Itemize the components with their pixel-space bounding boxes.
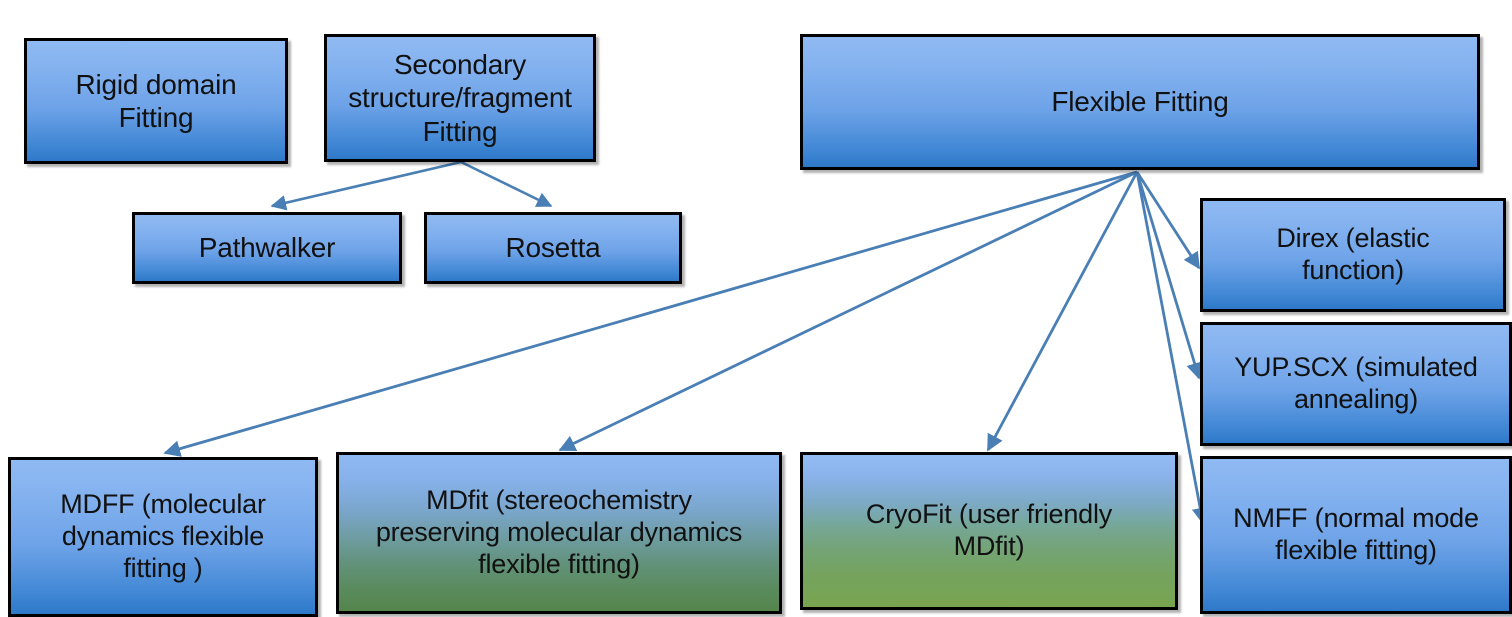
node-nmff-normal-mode-flexible-fitting[interactable]: NMFF (normal modeflexible fitting) xyxy=(1200,456,1512,614)
node-cryofit-user-friendly-mdfit[interactable]: CryoFit (user friendlyMDfit) xyxy=(800,452,1178,610)
node-label: YUP.SCX (simulatedannealing) xyxy=(1226,352,1486,416)
node-flexible-fitting[interactable]: Flexible Fitting xyxy=(800,34,1480,170)
node-pathwalker[interactable]: Pathwalker xyxy=(132,212,402,284)
node-label: CryoFit (user friendlyMDfit) xyxy=(858,499,1120,563)
node-label: Rosetta xyxy=(497,231,608,264)
node-label: Flexible Fitting xyxy=(1043,85,1236,118)
node-label: MDfit (stereochemistrypreserving molecul… xyxy=(368,485,750,581)
node-label: NMFF (normal modeflexible fitting) xyxy=(1225,503,1487,567)
node-label: MDFF (moleculardynamics flexiblefitting … xyxy=(52,489,274,585)
edge-flexible-to-yupscx xyxy=(1137,172,1199,378)
edge-flexible-to-direx xyxy=(1137,172,1199,268)
node-rigid-domain-fitting[interactable]: Rigid domainFitting xyxy=(24,38,288,164)
node-yupscx-simulated-annealing[interactable]: YUP.SCX (simulatedannealing) xyxy=(1200,322,1512,446)
node-direx-elastic-function[interactable]: Direx (elasticfunction) xyxy=(1200,198,1506,312)
node-label: Direx (elasticfunction) xyxy=(1268,223,1437,287)
edge-flexible-to-cryofit xyxy=(988,172,1137,450)
diagram-canvas: Rigid domainFitting Secondarystructure/f… xyxy=(0,0,1512,610)
node-label: Pathwalker xyxy=(191,231,344,264)
node-mdfit-stereochemistry-preserving[interactable]: MDfit (stereochemistrypreserving molecul… xyxy=(336,452,782,614)
node-rosetta[interactable]: Rosetta xyxy=(424,212,682,284)
edge-secondary-to-pathwalker xyxy=(272,162,461,206)
edge-secondary-to-rosetta xyxy=(461,162,551,206)
node-mdff-molecular-dynamics-flexible-fitting[interactable]: MDFF (moleculardynamics flexiblefitting … xyxy=(8,457,318,617)
node-label: Rigid domainFitting xyxy=(67,68,244,134)
node-secondary-structure-fragment-fitting[interactable]: Secondarystructure/fragmentFitting xyxy=(324,34,596,162)
node-label: Secondarystructure/fragmentFitting xyxy=(340,48,580,147)
